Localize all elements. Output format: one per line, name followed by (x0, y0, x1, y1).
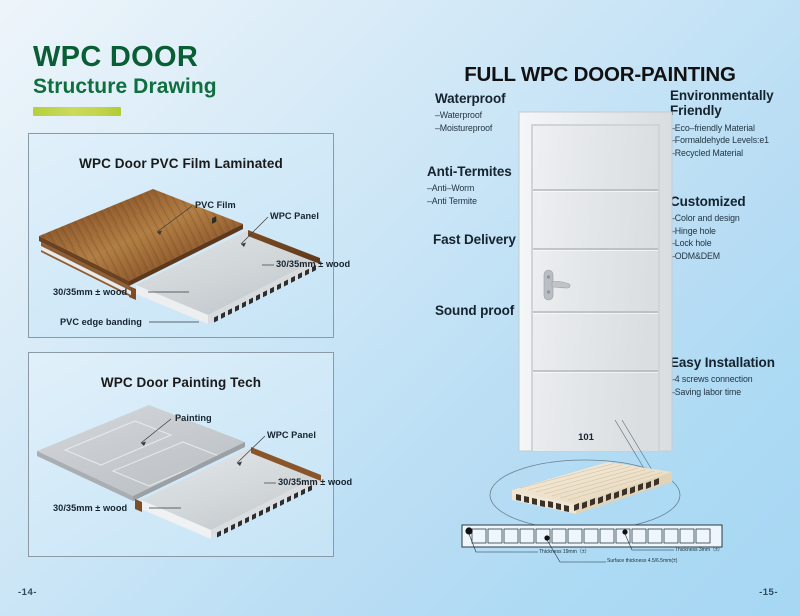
diagram-2-illustration (29, 353, 333, 556)
label-wood-left-2: 30/35mm ± wood (53, 503, 127, 513)
door-illustration (400, 0, 800, 616)
diagram-pvc-film-laminated: WPC Door PVC Film Laminated (28, 133, 334, 338)
label-pvc-edge-banding: PVC edge banding (60, 317, 142, 327)
callout-thickness-total: Thickness 19mm（±） (539, 548, 590, 555)
page-number-right: -15- (759, 587, 778, 598)
callout-thickness-wall: Thickness 3mm（±） (675, 546, 723, 553)
label-wpc-panel-1: WPC Panel (270, 211, 319, 221)
callout-surface-thickness: Surface thickness 4.5/6.5mm(±) (607, 558, 677, 564)
title-subtitle: Structure Drawing (33, 75, 217, 98)
label-wpc-panel-2: WPC Panel (267, 430, 316, 440)
page-title: WPC DOOR Structure Drawing (33, 42, 217, 99)
label-wood-right-2: 30/35mm ± wood (278, 477, 352, 487)
label-pvc-film: PVC Film (195, 200, 236, 210)
door-model-code: 101 (556, 432, 616, 443)
diagram-1-illustration (29, 134, 333, 337)
page-number-left: -14- (18, 587, 37, 598)
left-page: WPC DOOR Structure Drawing WPC Door PVC … (0, 0, 400, 616)
accent-bar (33, 107, 121, 116)
diagram-painting-tech: WPC Door Painting Tech (28, 352, 334, 557)
title-main: WPC DOOR (33, 42, 217, 72)
label-wood-right-1: 30/35mm ± wood (276, 259, 350, 269)
label-painting: Painting (175, 413, 212, 423)
catalog-spread: WPC DOOR Structure Drawing WPC Door PVC … (0, 0, 800, 616)
label-wood-left-1: 30/35mm ± wood (53, 287, 127, 297)
right-page: FULL WPC DOOR-PAINTING Waterproof –Water… (400, 0, 800, 616)
